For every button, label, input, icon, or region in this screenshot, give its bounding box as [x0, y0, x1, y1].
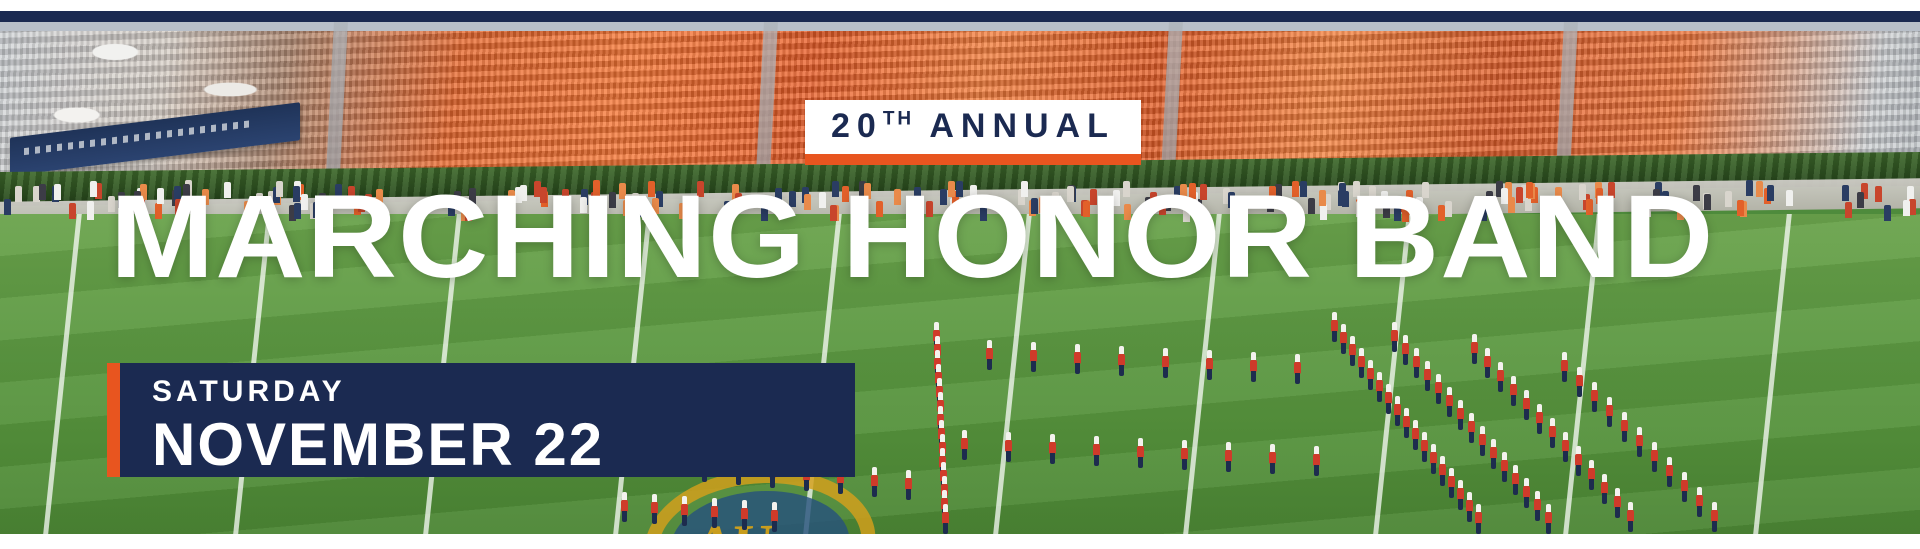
top-navy-rule	[0, 11, 1920, 22]
band-member	[1429, 444, 1438, 474]
band-member	[1560, 352, 1569, 382]
anniversary-number: 20	[831, 107, 883, 145]
event-day-label: SATURDAY	[152, 377, 855, 407]
band-member	[985, 340, 994, 370]
band-member	[1366, 360, 1375, 390]
anniversary-text: 20TH ANNUAL	[831, 109, 1115, 143]
auburn-field-logo: AU	[638, 467, 882, 534]
spectator	[54, 184, 61, 200]
spectator	[4, 199, 11, 215]
spectator	[1909, 199, 1916, 215]
band-member	[1401, 335, 1410, 365]
band-member	[1445, 387, 1454, 417]
band-member	[1312, 446, 1321, 476]
band-member	[1467, 413, 1476, 443]
page-title: MARCHING HONOR BAND	[110, 178, 1714, 296]
band-member	[1522, 390, 1531, 420]
band-member	[620, 492, 629, 522]
anniversary-white-bar: 20TH ANNUAL	[805, 100, 1141, 154]
band-member	[1402, 408, 1411, 438]
band-member	[1456, 400, 1465, 430]
band-member	[1561, 432, 1570, 462]
band-member	[1393, 396, 1402, 426]
band-member	[1224, 442, 1233, 472]
band-member	[1447, 468, 1456, 498]
spectator	[1756, 181, 1763, 197]
band-member	[1357, 348, 1366, 378]
yard-line	[43, 214, 82, 534]
band-member	[1420, 432, 1429, 462]
band-member	[1412, 348, 1421, 378]
spectator	[1842, 185, 1849, 201]
spectator	[87, 201, 94, 217]
band-member	[1620, 412, 1629, 442]
band-member	[941, 504, 950, 534]
band-member	[1092, 436, 1101, 466]
band-member	[1511, 465, 1520, 495]
band-member	[870, 467, 879, 497]
spectator	[1737, 200, 1744, 216]
top-white-strip	[0, 0, 1920, 11]
band-member	[1544, 504, 1553, 534]
band-member	[1478, 426, 1487, 456]
band-member	[1268, 444, 1277, 474]
band-member	[650, 494, 659, 524]
spectator	[1746, 180, 1753, 196]
band-member	[1548, 418, 1557, 448]
spectator	[1857, 192, 1864, 208]
band-member	[1613, 488, 1622, 518]
anniversary-banner: 20TH ANNUAL	[805, 100, 1141, 165]
band-member	[1465, 492, 1474, 522]
band-member	[1136, 438, 1145, 468]
band-member	[1375, 372, 1384, 402]
event-date-label: NOVEMBER 22	[152, 415, 855, 475]
band-member	[1470, 334, 1479, 364]
band-member	[710, 498, 719, 528]
spectator	[39, 184, 46, 200]
band-member	[1339, 324, 1348, 354]
band-member	[1434, 374, 1443, 404]
band-member	[1205, 350, 1214, 380]
band-member	[1626, 502, 1635, 532]
band-member	[1587, 460, 1596, 490]
band-member	[1635, 427, 1644, 457]
band-member	[1423, 361, 1432, 391]
band-member	[1522, 478, 1531, 508]
logo-mark-text: AU	[690, 511, 774, 534]
anniversary-suffix: TH	[883, 109, 914, 130]
band-member	[1117, 346, 1126, 376]
band-member	[1590, 382, 1599, 412]
spectator	[1725, 191, 1732, 207]
band-member	[1390, 322, 1399, 352]
band-member	[1384, 384, 1393, 414]
band-member	[1249, 352, 1258, 382]
band-member	[1710, 502, 1719, 532]
spectator	[1875, 186, 1882, 202]
band-member	[1533, 491, 1542, 521]
bottom-white-strip	[0, 534, 1920, 549]
band-member	[1483, 348, 1492, 378]
spectator	[69, 203, 76, 219]
band-member	[1348, 336, 1357, 366]
band-member	[1500, 452, 1509, 482]
band-member	[1509, 376, 1518, 406]
band-member	[1496, 362, 1505, 392]
band-member	[1650, 442, 1659, 472]
event-date-block: SATURDAY NOVEMBER 22	[120, 363, 855, 477]
spectator	[15, 186, 22, 202]
band-member	[1330, 312, 1339, 342]
band-member	[1695, 487, 1704, 517]
band-member	[1411, 420, 1420, 450]
spectator	[1767, 185, 1774, 201]
band-member	[1004, 432, 1013, 462]
band-member	[1073, 344, 1082, 374]
band-member	[1605, 397, 1614, 427]
spectator	[90, 181, 97, 197]
band-member	[1665, 457, 1674, 487]
spectator	[1845, 202, 1852, 218]
band-member	[1600, 474, 1609, 504]
band-member	[1474, 504, 1483, 534]
spectator	[1884, 205, 1891, 221]
spectator	[1786, 190, 1793, 206]
band-member	[1535, 404, 1544, 434]
band-member	[960, 430, 969, 460]
band-member	[1029, 342, 1038, 372]
promo-banner-page: AU HONOR BAND SEC 20TH ANNUAL MARCHING H…	[0, 0, 1920, 549]
band-member	[1293, 354, 1302, 384]
band-member	[680, 496, 689, 526]
band-member	[1161, 348, 1170, 378]
band-member	[740, 500, 749, 530]
band-member	[1489, 439, 1498, 469]
spectator	[1903, 200, 1910, 216]
band-member	[1456, 480, 1465, 510]
band-member	[904, 470, 913, 500]
band-member	[1680, 472, 1689, 502]
band-member	[770, 502, 779, 532]
anniversary-word: ANNUAL	[929, 107, 1115, 145]
band-member	[1180, 440, 1189, 470]
anniversary-orange-accent	[805, 154, 1141, 165]
band-member	[1048, 434, 1057, 464]
band-member	[1574, 446, 1583, 476]
yard-line	[1753, 214, 1792, 534]
band-member	[1438, 456, 1447, 486]
date-orange-accent	[107, 363, 120, 477]
band-member	[1575, 367, 1584, 397]
